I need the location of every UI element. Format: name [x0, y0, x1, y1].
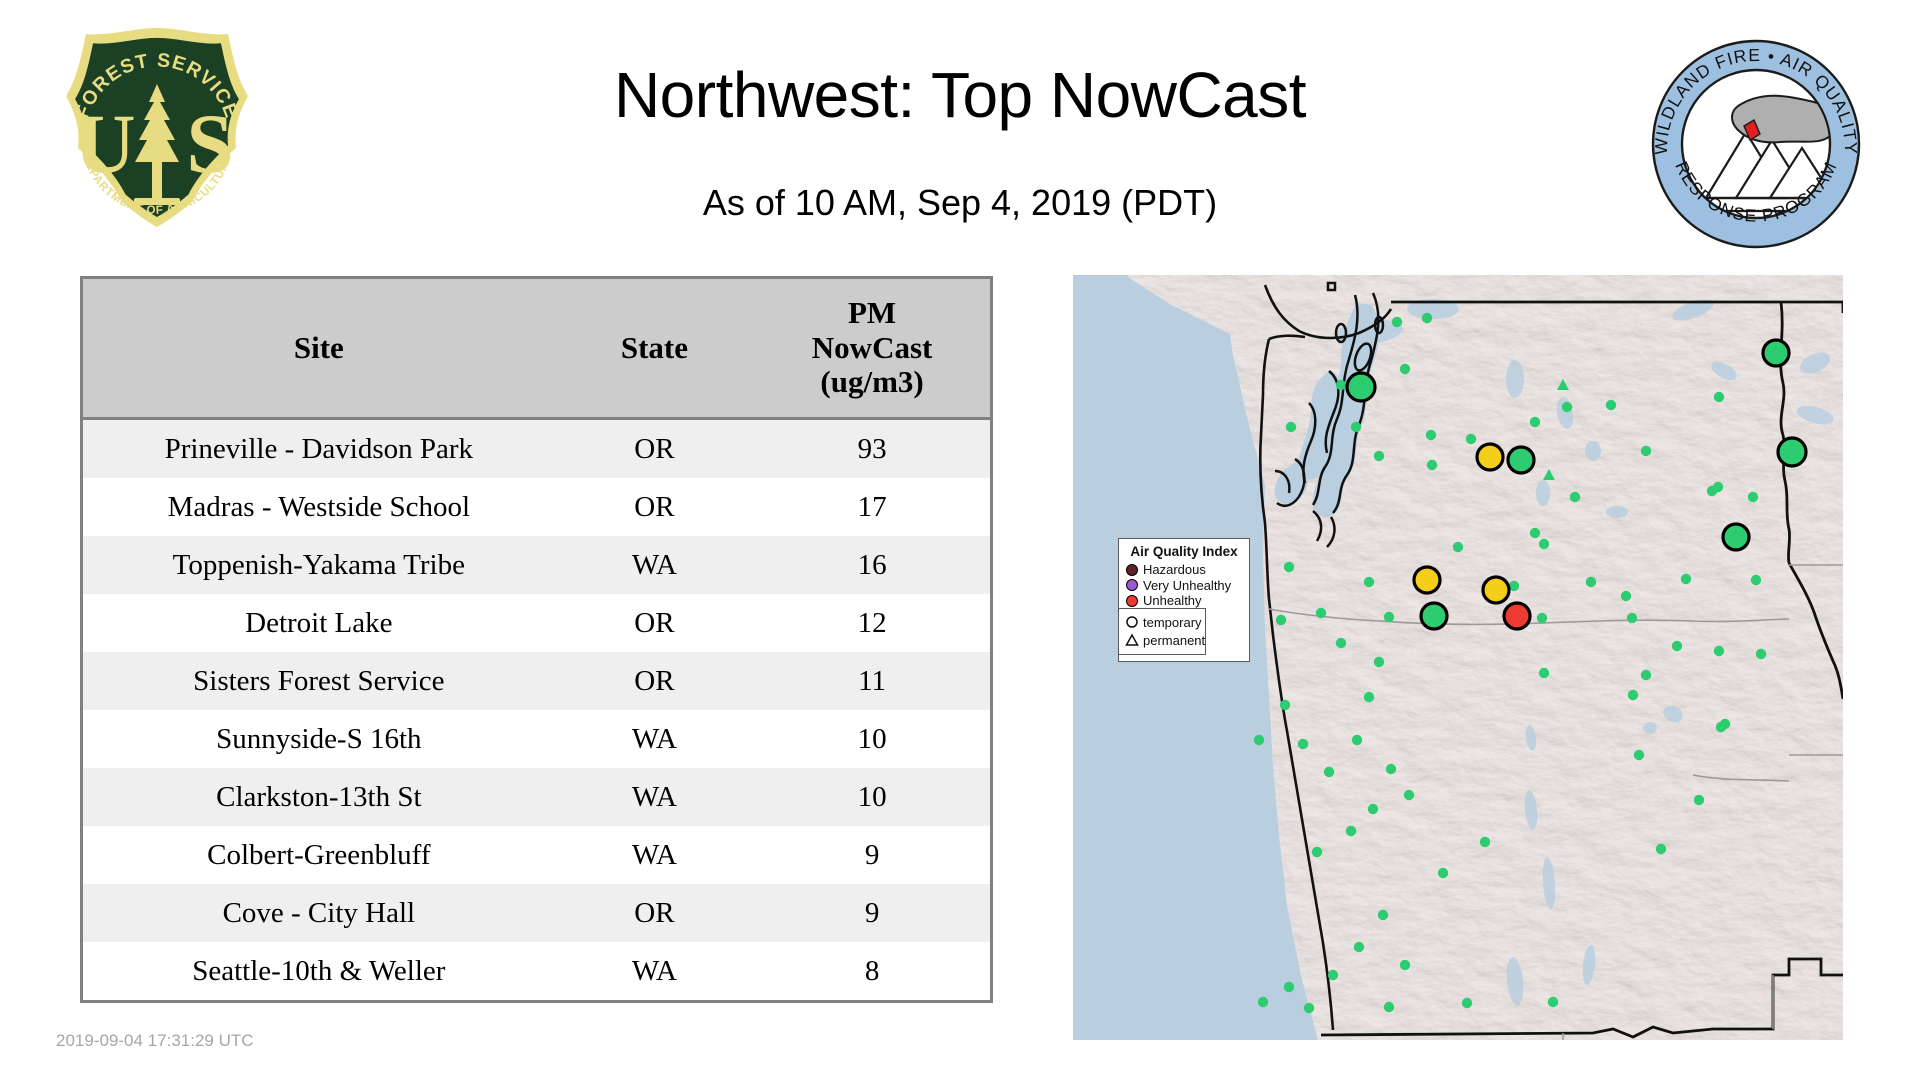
cell-state: WA [555, 710, 755, 768]
monitor-marker-good[interactable] [1404, 790, 1414, 800]
cell-site: Cove - City Hall [83, 884, 555, 942]
monitor-marker-good[interactable] [1312, 847, 1322, 857]
legend-item-permanent: permanent [1125, 631, 1199, 649]
monitor-marker-good[interactable] [1628, 690, 1638, 700]
page-title: Northwest: Top NowCast [300, 58, 1620, 132]
monitor-marker-good[interactable] [1634, 750, 1644, 760]
monitor-marker-good[interactable] [1672, 641, 1682, 651]
cell-site: Colbert-Greenbluff [83, 826, 555, 884]
monitor-marker-good[interactable] [1480, 837, 1490, 847]
monitor-marker-good[interactable] [1352, 735, 1362, 745]
monitor-marker-good[interactable] [1621, 591, 1631, 601]
page-subtitle: As of 10 AM, Sep 4, 2019 (PDT) [300, 182, 1620, 224]
logo-letter-s: S [186, 97, 233, 191]
legend-item-very-unhealthy: Very Unhealthy [1126, 578, 1242, 594]
cell-state: WA [555, 942, 755, 1000]
monitor-marker-good[interactable] [1748, 492, 1758, 502]
column-header-pm-nowcast: PM NowCast (ug/m3) [754, 279, 990, 419]
table-row: Toppenish-Yakama Tribe WA 16 [83, 536, 990, 594]
monitor-marker-good[interactable] [1720, 719, 1730, 729]
monitor-marker-good[interactable] [1364, 577, 1374, 587]
monitor-marker-good[interactable] [1298, 739, 1308, 749]
monitor-marker-good[interactable] [1400, 364, 1410, 374]
monitor-marker-good[interactable] [1548, 997, 1558, 1007]
cell-site: Prineville - Davidson Park [83, 419, 555, 479]
monitor-marker-good[interactable] [1694, 795, 1704, 805]
monitor-marker-good[interactable] [1426, 430, 1436, 440]
cell-pm: 10 [754, 710, 990, 768]
monitor-marker-highlighted[interactable] [1421, 603, 1447, 629]
air-quality-map[interactable]: Air Quality Index Hazardous Very Unhealt… [1073, 275, 1843, 1040]
monitor-marker-good[interactable] [1304, 1003, 1314, 1013]
monitor-marker-good[interactable] [1751, 575, 1761, 585]
monitor-marker-good[interactable] [1276, 615, 1286, 625]
monitor-marker-good[interactable] [1286, 422, 1296, 432]
monitor-marker-good[interactable] [1336, 380, 1346, 390]
aqi-legend-title: Air Quality Index [1126, 544, 1242, 559]
table-header-row: Site State PM NowCast (ug/m3) [83, 279, 990, 419]
monitor-marker-good[interactable] [1316, 608, 1326, 618]
monitor-marker-highlighted[interactable] [1414, 567, 1440, 593]
monitor-marker-good[interactable] [1562, 402, 1572, 412]
monitor-marker-good[interactable] [1364, 692, 1374, 702]
monitor-marker-good[interactable] [1386, 764, 1396, 774]
cell-state: OR [555, 478, 755, 536]
cell-site: Clarkston-13th St [83, 768, 555, 826]
table-row: Sunnyside-S 16th WA 10 [83, 710, 990, 768]
monitor-type-legend: temporary permanent [1118, 608, 1206, 655]
monitor-marker-good[interactable] [1280, 700, 1290, 710]
monitor-marker-good[interactable] [1606, 400, 1616, 410]
table-row: Detroit Lake OR 12 [83, 594, 990, 652]
legend-item-unhealthy: Unhealthy [1126, 593, 1242, 609]
monitor-marker-good[interactable] [1368, 804, 1378, 814]
swatch-very-unhealthy-icon [1126, 579, 1138, 591]
monitor-marker-good[interactable] [1641, 446, 1651, 456]
us-forest-service-logo: FOREST SERVICE DEPARTMENT OF AGRICULTURE… [52, 22, 262, 232]
monitor-marker-highlighted[interactable] [1504, 603, 1530, 629]
table-row: Colbert-Greenbluff WA 9 [83, 826, 990, 884]
generation-timestamp: 2019-09-04 17:31:29 UTC [56, 1031, 254, 1051]
monitor-marker-good[interactable] [1392, 317, 1402, 327]
monitor-marker-highlighted[interactable] [1347, 373, 1375, 401]
monitor-marker-good[interactable] [1328, 970, 1338, 980]
monitor-marker-good[interactable] [1346, 826, 1356, 836]
legend-item-temporary: temporary [1125, 613, 1199, 631]
monitor-marker-highlighted[interactable] [1778, 438, 1806, 466]
wildland-fire-air-quality-logo: WILDLAND FIRE • AIR QUALITY RESPONSE PRO… [1650, 38, 1862, 250]
monitor-marker-good[interactable] [1641, 670, 1651, 680]
monitor-marker-good[interactable] [1284, 982, 1294, 992]
cell-pm: 93 [754, 419, 990, 479]
cell-pm: 9 [754, 826, 990, 884]
monitor-marker-good[interactable] [1400, 960, 1410, 970]
cell-state: OR [555, 594, 755, 652]
monitor-marker-highlighted[interactable] [1508, 447, 1534, 473]
monitor-marker-highlighted[interactable] [1477, 444, 1503, 470]
poster-root: FOREST SERVICE DEPARTMENT OF AGRICULTURE… [0, 0, 1920, 1080]
monitor-marker-good[interactable] [1258, 997, 1268, 1007]
cell-state: WA [555, 768, 755, 826]
cell-site: Detroit Lake [83, 594, 555, 652]
swatch-hazardous-icon [1126, 564, 1138, 576]
legend-item-hazardous: Hazardous [1126, 562, 1242, 578]
monitor-marker-highlighted[interactable] [1483, 577, 1509, 603]
pm-line-3: (ug/m3) [758, 365, 986, 400]
monitor-marker-good[interactable] [1254, 735, 1264, 745]
monitor-marker-good[interactable] [1284, 562, 1294, 572]
column-header-state: State [555, 279, 755, 419]
monitor-marker-good[interactable] [1374, 451, 1384, 461]
logo-letter-u: U [74, 97, 135, 191]
table-row: Seattle-10th & Weller WA 8 [83, 942, 990, 1000]
table-row: Madras - Westside School OR 17 [83, 478, 990, 536]
monitor-marker-good[interactable] [1384, 1002, 1394, 1012]
monitor-marker-good[interactable] [1324, 767, 1334, 777]
swatch-unhealthy-icon [1126, 595, 1138, 607]
pm-line-1: PM [758, 296, 986, 331]
monitor-marker-good[interactable] [1378, 910, 1388, 920]
cell-state: OR [555, 419, 755, 479]
table-row: Sisters Forest Service OR 11 [83, 652, 990, 710]
circle-icon [1125, 615, 1139, 629]
monitor-marker-good[interactable] [1438, 868, 1448, 878]
monitor-marker-good[interactable] [1656, 844, 1666, 854]
top-nowcast-table: Site State PM NowCast (ug/m3) Prineville… [80, 276, 993, 1003]
cell-pm: 11 [754, 652, 990, 710]
monitor-marker-good[interactable] [1336, 638, 1346, 648]
cell-state: WA [555, 826, 755, 884]
legend-label-unhealthy: Unhealthy [1143, 593, 1202, 608]
cell-pm: 10 [754, 768, 990, 826]
cell-pm: 8 [754, 942, 990, 1000]
cell-site: Seattle-10th & Weller [83, 942, 555, 1000]
legend-label-hazardous: Hazardous [1143, 562, 1206, 577]
triangle-icon [1125, 633, 1139, 647]
monitor-marker-good[interactable] [1374, 657, 1384, 667]
monitor-marker-highlighted[interactable] [1723, 524, 1749, 550]
cell-site: Sisters Forest Service [83, 652, 555, 710]
monitor-marker-good[interactable] [1586, 577, 1596, 587]
monitor-marker-good[interactable] [1714, 646, 1724, 656]
table-row: Prineville - Davidson Park OR 93 [83, 419, 990, 479]
monitor-marker-good[interactable] [1539, 668, 1549, 678]
monitor-marker-good[interactable] [1462, 998, 1472, 1008]
monitor-marker-good[interactable] [1681, 574, 1691, 584]
cell-site: Toppenish-Yakama Tribe [83, 536, 555, 594]
legend-label-temporary: temporary [1143, 615, 1202, 630]
monitor-marker-good[interactable] [1627, 613, 1637, 623]
cell-state: OR [555, 884, 755, 942]
monitor-marker-good[interactable] [1427, 460, 1437, 470]
table-row: Clarkston-13th St WA 10 [83, 768, 990, 826]
monitor-marker-good[interactable] [1466, 434, 1476, 444]
cell-pm: 17 [754, 478, 990, 536]
monitor-marker-good[interactable] [1530, 417, 1540, 427]
column-header-site: Site [83, 279, 555, 419]
monitor-marker-good[interactable] [1354, 942, 1364, 952]
cell-state: OR [555, 652, 755, 710]
monitor-marker-good[interactable] [1713, 482, 1723, 492]
pm-line-2: NowCast [758, 331, 986, 366]
cell-site: Madras - Westside School [83, 478, 555, 536]
monitor-marker-good[interactable] [1422, 313, 1432, 323]
cell-pm: 16 [754, 536, 990, 594]
monitor-marker-good[interactable] [1756, 649, 1766, 659]
cell-pm: 9 [754, 884, 990, 942]
monitor-marker-good[interactable] [1351, 422, 1361, 432]
monitor-marker-good[interactable] [1539, 539, 1549, 549]
cell-state: WA [555, 536, 755, 594]
monitor-marker-good[interactable] [1714, 392, 1724, 402]
monitor-marker-good[interactable] [1537, 613, 1547, 623]
legend-label-very-unhealthy: Very Unhealthy [1143, 578, 1231, 593]
cell-site: Sunnyside-S 16th [83, 710, 555, 768]
monitor-marker-good[interactable] [1384, 612, 1394, 622]
monitor-marker-highlighted[interactable] [1763, 340, 1789, 366]
monitor-marker-good[interactable] [1570, 492, 1580, 502]
monitor-marker-good[interactable] [1453, 542, 1463, 552]
cell-pm: 12 [754, 594, 990, 652]
table-row: Cove - City Hall OR 9 [83, 884, 990, 942]
legend-label-permanent: permanent [1143, 633, 1205, 648]
monitor-marker-good[interactable] [1530, 528, 1540, 538]
